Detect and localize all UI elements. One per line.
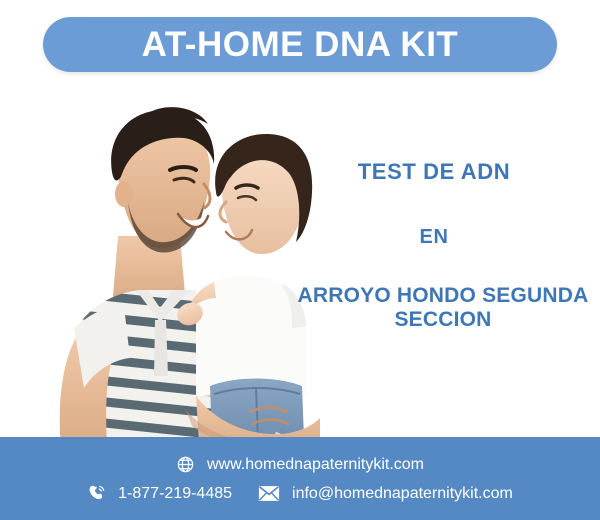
phone-text: 1-877-219-4485 <box>118 486 232 502</box>
email-item[interactable]: info@homednapaternitykit.com <box>258 485 513 502</box>
website-text: www.homednapaternitykit.com <box>207 457 424 473</box>
promo-copy: TEST DE ADN EN ARROYO HONDO SEGUNDA SECC… <box>268 160 600 331</box>
envelope-icon <box>258 485 280 502</box>
copy-line-preposition: EN <box>268 226 600 248</box>
footer-row-contact: 1-877-219-4485 info@homednapaternitykit.… <box>0 484 600 503</box>
website-item[interactable]: www.homednapaternitykit.com <box>176 455 424 474</box>
footer-row-website: www.homednapaternitykit.com <box>0 455 600 474</box>
phone-item[interactable]: 1-877-219-4485 <box>87 484 232 503</box>
copy-line-service: TEST DE ADN <box>268 160 600 184</box>
email-text: info@homednapaternitykit.com <box>292 486 513 502</box>
globe-icon <box>176 455 195 474</box>
contact-footer: www.homednapaternitykit.com 1-877-219-44… <box>0 437 600 520</box>
copy-line-location: ARROYO HONDO SEGUNDA SECCION <box>272 284 600 331</box>
dna-kit-banner: AT-HOME DNA KIT <box>0 0 600 520</box>
page-title: AT-HOME DNA KIT <box>142 27 459 62</box>
header-pill: AT-HOME DNA KIT <box>43 17 557 72</box>
phone-icon <box>87 484 106 503</box>
